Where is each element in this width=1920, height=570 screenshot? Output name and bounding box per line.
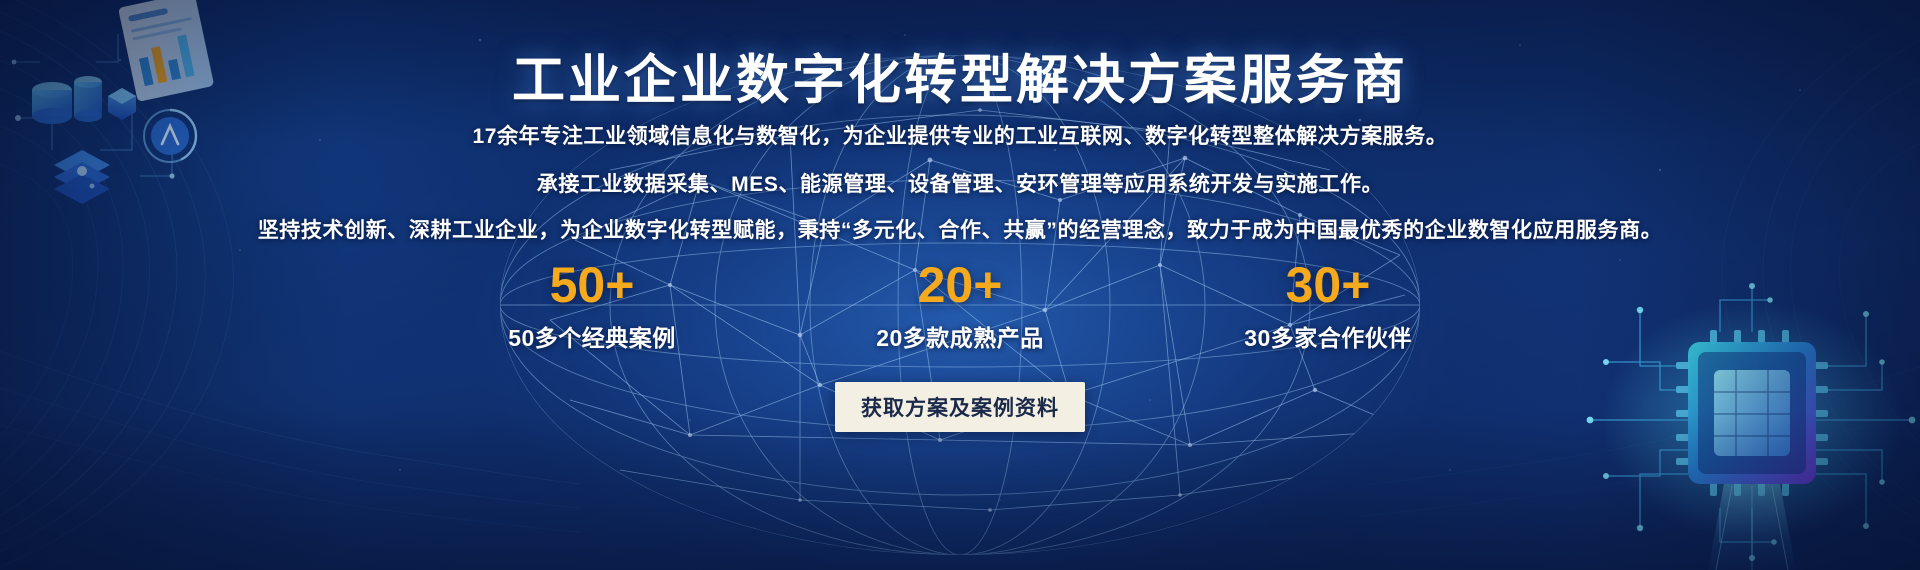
stat-label: 50多个经典案例 xyxy=(464,319,720,353)
banner-content: 工业企业数字化转型解决方案服务商 17余年专注工业领域信息化与数智化，为企业提供… xyxy=(0,0,1920,570)
stat-item-partners: 30+ 30多家合作伙伴 xyxy=(1200,258,1456,353)
stat-number: 20+ xyxy=(832,258,1088,313)
page-title: 工业企业数字化转型解决方案服务商 xyxy=(0,38,1920,114)
cta-container: 获取方案及案例资料 xyxy=(0,382,1920,432)
stat-label: 20多款成熟产品 xyxy=(832,319,1088,353)
subtitle-line-2: 承接工业数据采集、MES、能源管理、设备管理、安环管理等应用系统开发与实施工作。 xyxy=(0,168,1920,198)
stats-row: 50+ 50多个经典案例 20+ 20多款成熟产品 30+ 30多家合作伙伴 xyxy=(0,258,1920,353)
stat-label: 30多家合作伙伴 xyxy=(1200,319,1456,353)
stat-item-products: 20+ 20多款成熟产品 xyxy=(832,258,1088,353)
subtitle-line-3: 坚持技术创新、深耕工业企业，为企业数字化转型赋能，秉持“多元化、合作、共赢”的经… xyxy=(0,214,1920,244)
subtitle-line-1: 17余年专注工业领域信息化与数智化，为企业提供专业的工业互联网、数字化转型整体解… xyxy=(0,120,1920,150)
hero-banner: 工业企业数字化转型解决方案服务商 17余年专注工业领域信息化与数智化，为企业提供… xyxy=(0,0,1920,570)
stat-item-cases: 50+ 50多个经典案例 xyxy=(464,258,720,353)
get-solution-materials-button[interactable]: 获取方案及案例资料 xyxy=(835,382,1085,432)
stat-number: 30+ xyxy=(1200,258,1456,313)
stat-number: 50+ xyxy=(464,258,720,313)
